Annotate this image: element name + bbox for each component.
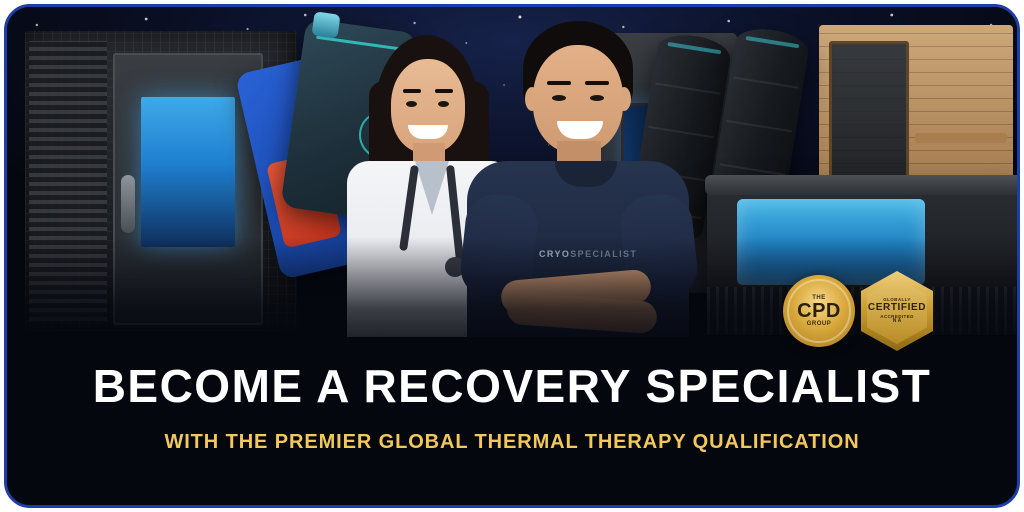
cpd-badge-top-text: THE [812, 295, 826, 301]
eyebrow-left [547, 81, 571, 85]
page-title: BECOME A RECOVERY SPECIALIST [7, 359, 1017, 413]
eyebrow-right [585, 81, 609, 85]
shirt-collar [555, 161, 617, 187]
sauna-upper-bench [915, 133, 1007, 143]
cpd-badge: THE CPD GROUP [783, 275, 855, 347]
plunge-rim [705, 175, 1020, 195]
eye-left [552, 95, 566, 101]
cpd-badge-bottom-text: GROUP [807, 321, 832, 327]
eyebrow-right [435, 89, 453, 93]
smile [408, 125, 448, 139]
certified-badge-line2: CERTIFIED [868, 302, 926, 314]
face [533, 45, 623, 153]
page-subtitle: WITH THE PREMIER GLOBAL THERMAL THERAPY … [7, 431, 1017, 454]
chamber-window [141, 97, 235, 247]
accreditation-badges: THE CPD GROUP GLOBALLY CERTIFIED ACCREDI… [783, 271, 933, 351]
scrub-top [415, 161, 449, 215]
eye-right [590, 95, 604, 101]
smile [557, 121, 603, 139]
face [391, 59, 465, 153]
eye-right [438, 101, 449, 107]
certified-badge-text: GLOBALLY CERTIFIED ACCREDITED N A [868, 297, 926, 325]
certified-badge: GLOBALLY CERTIFIED ACCREDITED N A [861, 271, 933, 351]
certified-badge-line4: N A [868, 319, 926, 325]
cpd-badge-main-text: CPD [797, 301, 841, 321]
chamber-door-handle [121, 175, 135, 233]
eyebrow-left [403, 89, 421, 93]
banner-inner-frame: CRYOSPECIALIST THE CPD GROUP GLOBALLY CE… [4, 4, 1020, 508]
boot-accent-stripe [745, 36, 799, 48]
eye-left [406, 101, 417, 107]
promo-banner: CRYOSPECIALIST THE CPD GROUP GLOBALLY CE… [0, 0, 1024, 512]
